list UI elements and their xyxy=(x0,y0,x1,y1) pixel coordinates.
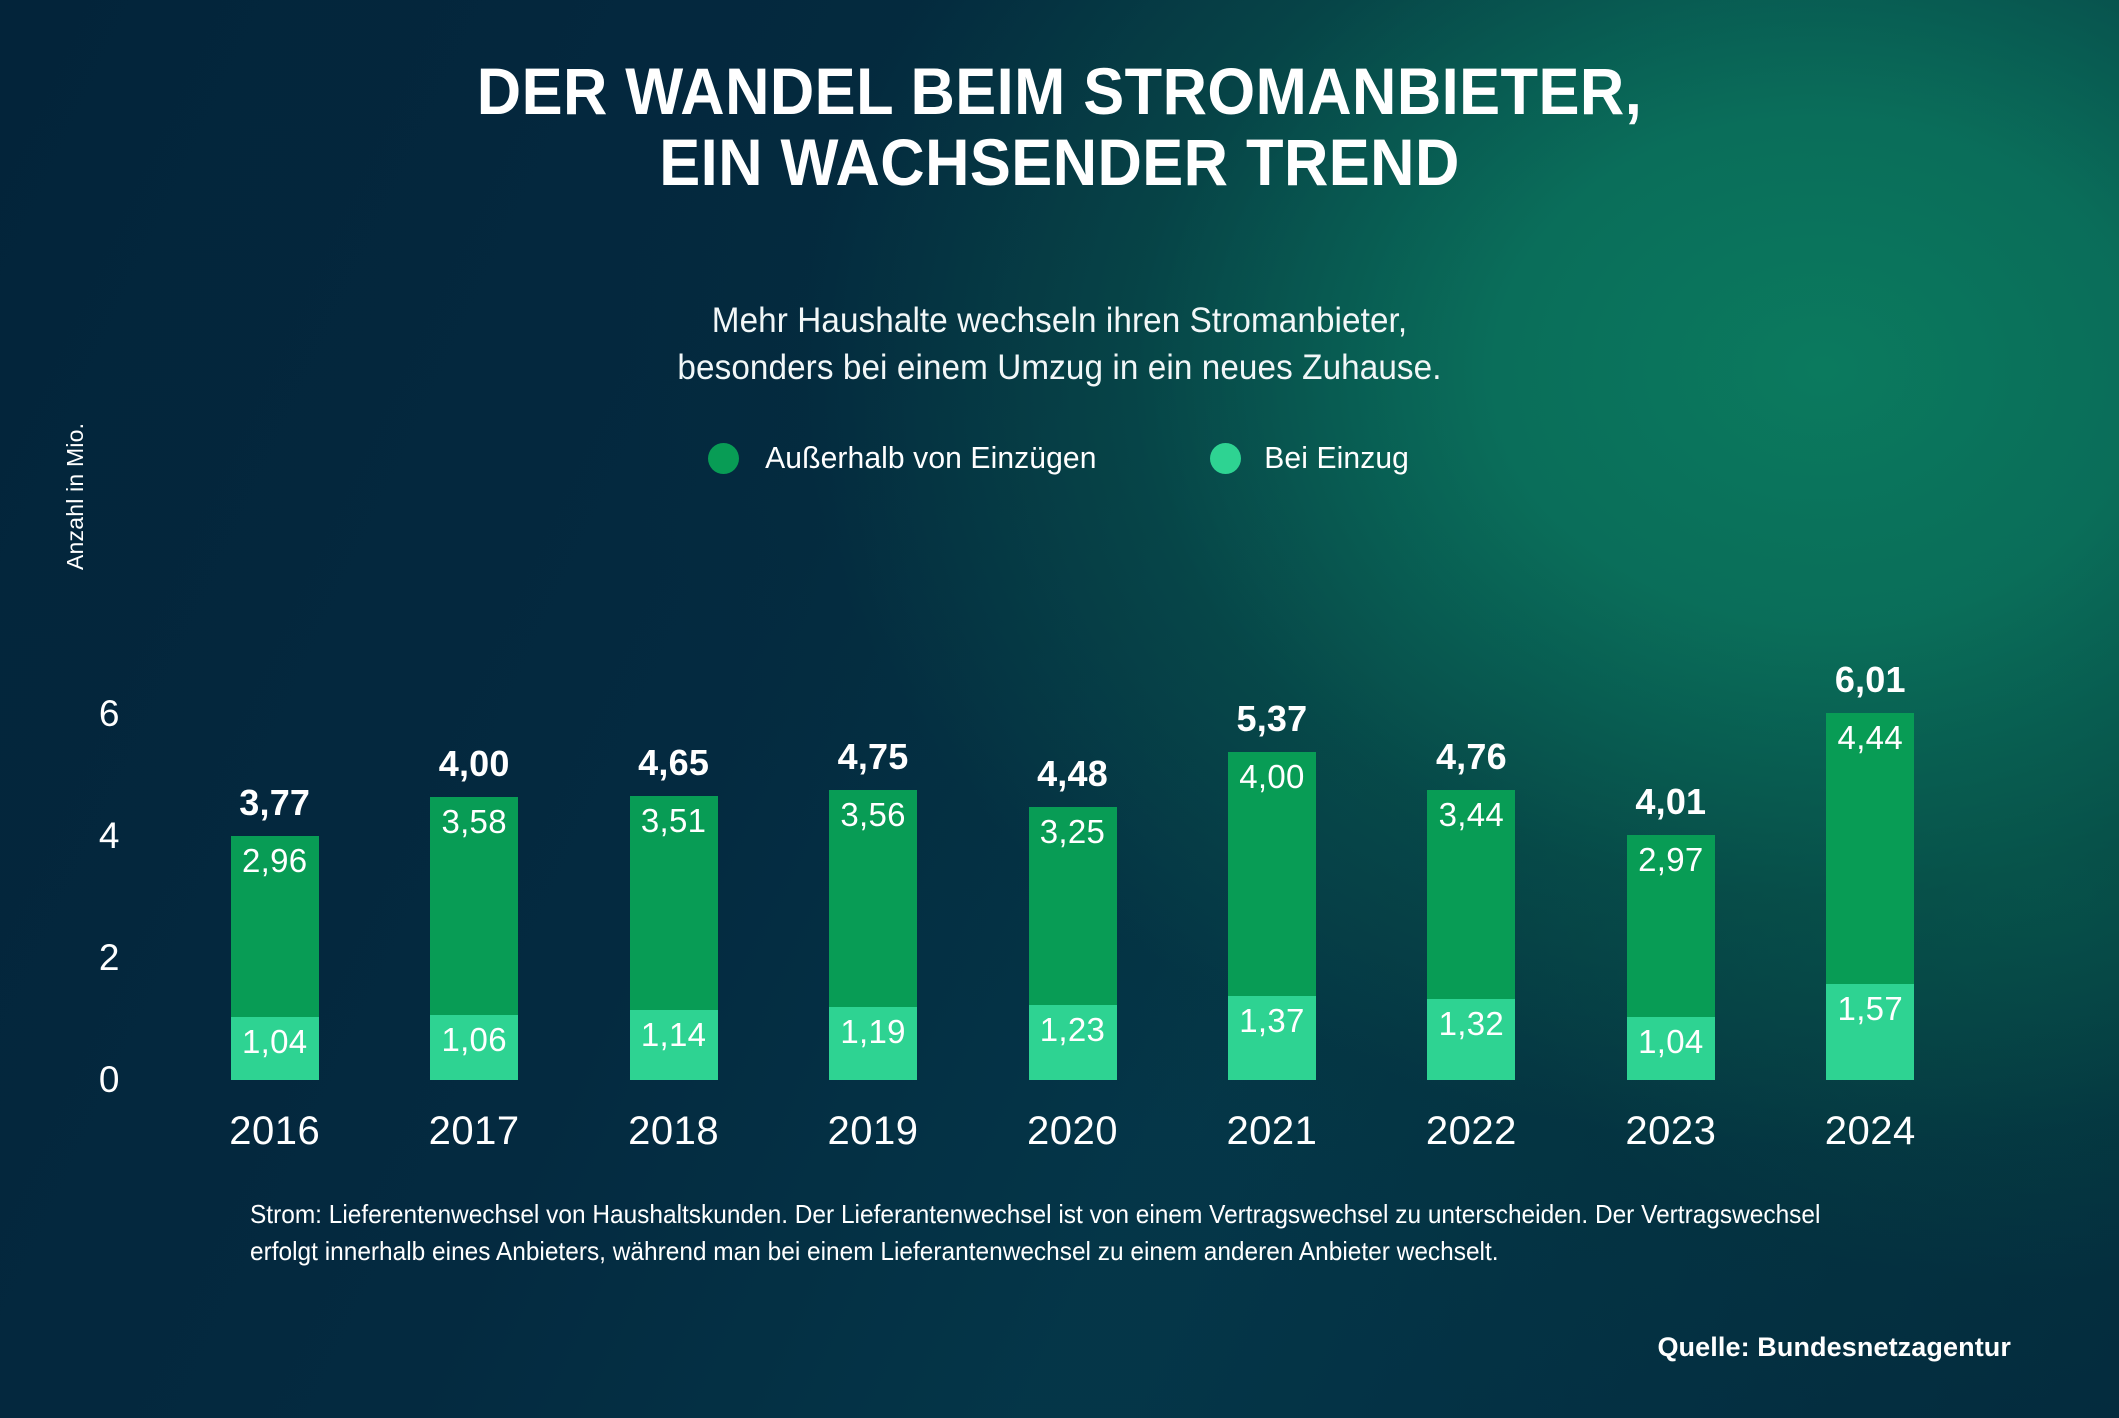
legend-item-label: Bei Einzug xyxy=(1264,440,1409,476)
chart-footnote: Strom: Lieferentenwechsel von Haushaltsk… xyxy=(250,1196,1828,1270)
bar-column[interactable]: 6,014,441,572024 xyxy=(1826,520,1914,1080)
bar-segment-bei-einzug[interactable]: 1,23 xyxy=(1029,1005,1117,1080)
x-axis-tick-label: 2022 xyxy=(1385,1109,1557,1154)
bar-total-label: 4,00 xyxy=(400,743,548,785)
legend-item-label: Außerhalb von Einzügen xyxy=(765,440,1096,476)
bar-segment-ausserhalb[interactable]: 4,00 xyxy=(1228,752,1316,996)
bar-segment-ausserhalb[interactable]: 3,58 xyxy=(430,797,518,1015)
bar-column[interactable]: 5,374,001,372021 xyxy=(1228,520,1316,1080)
x-axis-tick-label: 2024 xyxy=(1784,1109,1956,1154)
legend-swatch-icon xyxy=(708,443,739,474)
bar-total-label: 4,75 xyxy=(799,736,947,778)
y-axis-tick-label: 6 xyxy=(30,693,120,735)
y-axis-tick-label: 0 xyxy=(30,1059,120,1101)
bar-segment-ausserhalb[interactable]: 2,97 xyxy=(1627,835,1715,1016)
bar-segment-ausserhalb[interactable]: 4,44 xyxy=(1826,713,1914,984)
x-axis-tick-label: 2016 xyxy=(189,1109,361,1154)
bar-segment-label: 1,57 xyxy=(1826,990,1914,1028)
bar-segment-bei-einzug[interactable]: 1,04 xyxy=(1627,1017,1715,1080)
bar-segment-label: 2,96 xyxy=(231,842,319,880)
legend-item-bei-einzug[interactable]: Bei Einzug xyxy=(1210,440,1411,476)
bar-segment-label: 4,00 xyxy=(1228,758,1316,796)
bar-segment-label: 1,04 xyxy=(1627,1023,1715,1061)
bar-column[interactable]: 4,763,441,322022 xyxy=(1427,520,1515,1080)
bar-chart-plot: 0246 3,772,961,0420164,003,581,0620174,6… xyxy=(0,520,2119,1080)
y-axis-title: Anzahl in Mio. xyxy=(62,230,102,570)
bar-segment-bei-einzug[interactable]: 1,19 xyxy=(829,1007,917,1080)
bar-segment-ausserhalb[interactable]: 3,25 xyxy=(1029,807,1117,1005)
bar-column[interactable]: 3,772,961,042016 xyxy=(231,520,319,1080)
bar-segment-label: 1,04 xyxy=(231,1023,319,1061)
bar-column[interactable]: 4,753,561,192019 xyxy=(829,520,917,1080)
bar-segment-label: 1,06 xyxy=(430,1021,518,1059)
bar-segment-label: 3,44 xyxy=(1427,796,1515,834)
bar-segment-label: 1,23 xyxy=(1029,1011,1117,1049)
bar-total-label: 4,65 xyxy=(600,742,748,784)
page-title: DER WANDEL BEIM STROMANBIETER, EIN WACHS… xyxy=(74,56,2045,197)
bar-segment-ausserhalb[interactable]: 3,56 xyxy=(829,790,917,1007)
bar-segment-label: 3,51 xyxy=(630,802,718,840)
legend-swatch-icon xyxy=(1210,443,1241,474)
bar-segment-bei-einzug[interactable]: 1,37 xyxy=(1228,996,1316,1080)
bar-segment-bei-einzug[interactable]: 1,14 xyxy=(630,1010,718,1080)
y-axis-tick-label: 4 xyxy=(30,815,120,857)
bar-segment-label: 3,56 xyxy=(829,796,917,834)
bar-segment-label: 2,97 xyxy=(1627,841,1715,879)
bar-column[interactable]: 4,653,511,142018 xyxy=(630,520,718,1080)
chart-legend: Außerhalb von Einzügen Bei Einzug xyxy=(0,440,2119,476)
bar-segment-label: 1,19 xyxy=(829,1013,917,1051)
bar-segment-ausserhalb[interactable]: 2,96 xyxy=(231,836,319,1017)
infographic-canvas: DER WANDEL BEIM STROMANBIETER, EIN WACHS… xyxy=(0,0,2119,1418)
x-axis-tick-label: 2019 xyxy=(787,1109,959,1154)
bar-total-label: 6,01 xyxy=(1796,659,1944,701)
bar-segment-ausserhalb[interactable]: 3,44 xyxy=(1427,790,1515,1000)
bar-segment-label: 3,58 xyxy=(430,803,518,841)
legend-item-ausserhalb[interactable]: Außerhalb von Einzügen xyxy=(708,440,1102,476)
bar-segment-label: 1,37 xyxy=(1228,1002,1316,1040)
bar-group: 3,772,961,0420164,003,581,0620174,653,51… xyxy=(175,520,1970,1080)
bar-total-label: 4,76 xyxy=(1397,736,1545,778)
bar-column[interactable]: 4,012,971,042023 xyxy=(1627,520,1715,1080)
bar-total-label: 4,48 xyxy=(999,753,1147,795)
bar-segment-label: 1,14 xyxy=(630,1016,718,1054)
bar-segment-label: 3,25 xyxy=(1029,813,1117,851)
bar-segment-label: 1,32 xyxy=(1427,1005,1515,1043)
x-axis-tick-label: 2020 xyxy=(987,1109,1159,1154)
x-axis-tick-label: 2017 xyxy=(388,1109,560,1154)
bar-segment-label: 4,44 xyxy=(1826,719,1914,757)
bar-total-label: 5,37 xyxy=(1198,698,1346,740)
bar-segment-bei-einzug[interactable]: 1,06 xyxy=(430,1015,518,1080)
bar-segment-bei-einzug[interactable]: 1,57 xyxy=(1826,984,1914,1080)
chart-source: Quelle: Bundesnetzagentur xyxy=(1657,1332,2011,1363)
x-axis-tick-label: 2018 xyxy=(588,1109,760,1154)
y-axis-tick-label: 2 xyxy=(30,937,120,979)
bar-column[interactable]: 4,003,581,062017 xyxy=(430,520,518,1080)
page-subtitle: Mehr Haushalte wechseln ihren Stromanbie… xyxy=(53,298,2066,391)
bar-total-label: 3,77 xyxy=(201,782,349,824)
bar-segment-bei-einzug[interactable]: 1,04 xyxy=(231,1017,319,1080)
x-axis-tick-label: 2021 xyxy=(1186,1109,1358,1154)
bar-segment-ausserhalb[interactable]: 3,51 xyxy=(630,796,718,1010)
bar-column[interactable]: 4,483,251,232020 xyxy=(1029,520,1117,1080)
bar-segment-bei-einzug[interactable]: 1,32 xyxy=(1427,999,1515,1080)
bar-total-label: 4,01 xyxy=(1597,781,1745,823)
x-axis-tick-label: 2023 xyxy=(1585,1109,1757,1154)
